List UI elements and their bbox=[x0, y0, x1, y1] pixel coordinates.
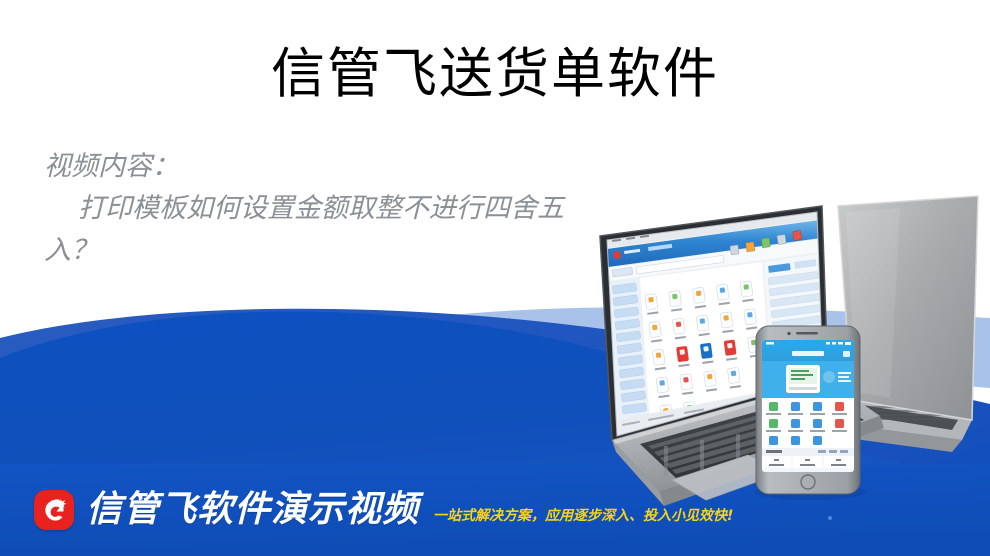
video-content-label: 视频内容： bbox=[44, 146, 584, 188]
bottom-brand-bar: 信管飞软件演示视频 一站式解决方案，应用逐步深入、投入小见效快! bbox=[0, 464, 990, 556]
brand-name: 信管飞软件演示视频 bbox=[86, 490, 419, 530]
phone-screen-content bbox=[762, 340, 854, 472]
slide-canvas: 信管飞送货单软件 视频内容： 打印模板如何设置金额取整不进行四舍五入？ 信管飞软… bbox=[0, 0, 990, 556]
decorative-dot bbox=[828, 516, 832, 520]
video-content-question: 打印模板如何设置金额取整不进行四舍五入？ bbox=[44, 188, 584, 272]
page-title: 信管飞送货单软件 bbox=[0, 42, 990, 106]
xinguanfei-logo-icon bbox=[34, 490, 74, 530]
video-content-block: 视频内容： 打印模板如何设置金额取整不进行四舍五入？ bbox=[44, 146, 584, 272]
brand-tagline: 一站式解决方案，应用逐步深入、投入小见效快! bbox=[433, 507, 733, 525]
